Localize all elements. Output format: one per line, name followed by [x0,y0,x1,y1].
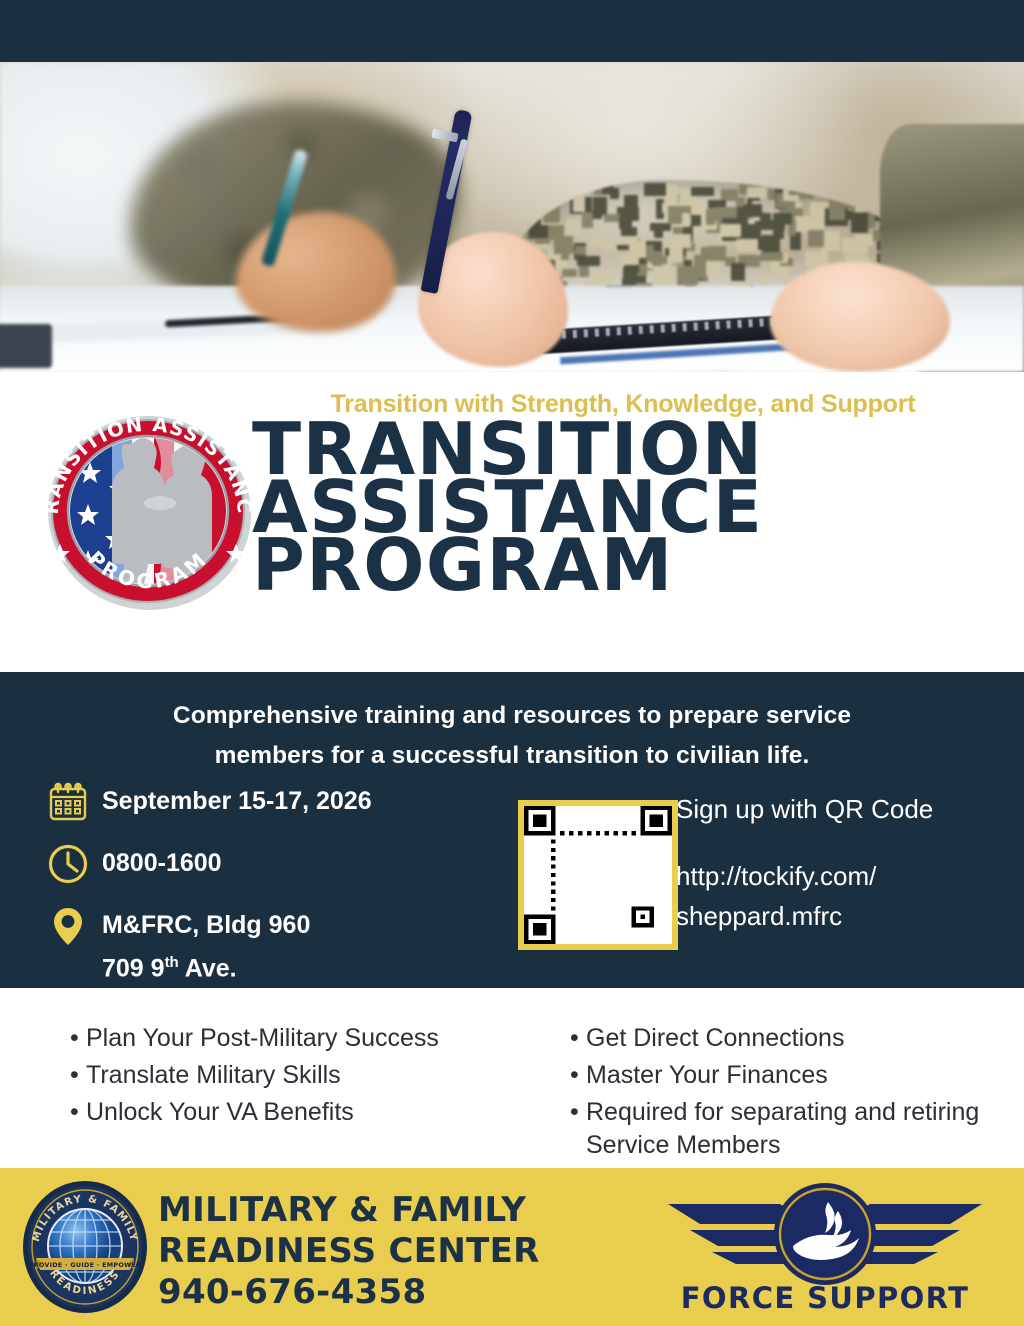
title-block: TRANSITION ASSISTANCE PROGRAM Transition… [0,372,1024,672]
bullet-dot-icon: • [570,1022,586,1055]
page-title: TRANSITION ASSISTANCE PROGRAM [252,420,852,594]
org-name-block: MILITARY & FAMILY READINESS CENTER 940-6… [158,1190,578,1313]
bullet-dot-icon: • [70,1096,86,1129]
qr-url-line-1: http://tockify.com/ [676,856,1006,896]
bullet-dot-icon: • [70,1059,86,1092]
tap-seal-icon: TRANSITION ASSISTANCE PROGRAM [28,404,268,619]
clock-icon [46,842,90,886]
list-item: •Translate Military Skills [70,1059,540,1092]
detail-time: 0800-1600 [46,842,516,886]
bullet-dot-icon: • [570,1059,586,1092]
force-support-wings-icon: FORCE SUPPORT [660,1178,990,1318]
list-item: •Unlock Your VA Benefits [70,1096,540,1129]
list-item: •Master Your Finances [570,1059,1000,1092]
detail-location: M&FRC, Bldg 960 709 9th Ave. [46,904,516,984]
qr-side-text: Sign up with QR Code http://tockify.com/… [676,792,1006,936]
detail-date-text: September 15-17, 2026 [102,780,372,817]
info-lead-line-2: members for a successful transition to c… [60,736,964,776]
list-item-label: Plan Your Post-Military Success [86,1022,540,1055]
info-lead: Comprehensive training and resources to … [60,696,964,776]
detail-time-text: 0800-1600 [102,842,222,879]
list-item-label: Get Direct Connections [586,1022,1000,1055]
mfrc-banner-text: PROVIDE · GUIDE · EMPOWER [29,1261,142,1269]
desk-object [0,324,52,368]
bullet-dot-icon: • [570,1096,586,1129]
qr-inner [524,806,672,944]
list-item-label: Translate Military Skills [86,1059,540,1092]
list-item-label: Master Your Finances [586,1059,1000,1092]
info-lead-line-1: Comprehensive training and resources to … [60,696,964,736]
list-item: •Get Direct Connections [570,1022,1000,1055]
hero-photo [0,62,1024,372]
event-details: September 15-17, 2026 0800-1600 [46,780,516,1002]
list-item-label: Required for separating and retiring Ser… [586,1096,1000,1162]
footer-bar: PROVIDE · GUIDE · EMPOWER MILITARY & FAM… [0,1168,1024,1326]
qr-frame [518,800,678,950]
qr-url-line-2: sheppard.mfrc [676,896,1006,936]
calendar-icon [46,780,90,824]
detail-date: September 15-17, 2026 [46,780,516,824]
bullet-dot-icon: • [70,1022,86,1055]
benefits-right-column: •Get Direct Connections •Master Your Fin… [570,1022,1000,1166]
list-item: •Plan Your Post-Military Success [70,1022,540,1055]
detail-location-text: M&FRC, Bldg 960 709 9th Ave. [102,904,310,984]
flyer-page: TRANSITION ASSISTANCE PROGRAM Transition… [0,0,1024,1326]
benefits-left-column: •Plan Your Post-Military Success •Transl… [70,1022,540,1133]
detail-location-line-2: 709 9th Ave. [102,947,310,984]
force-support-label: FORCE SUPPORT [681,1281,970,1315]
globe-seal-icon: PROVIDE · GUIDE · EMPOWER MILITARY & FAM… [22,1180,148,1314]
benefits-section: •Plan Your Post-Military Success •Transl… [0,988,1024,1168]
qr-caption: Sign up with QR Code [676,792,1006,826]
org-name-line-1: MILITARY & FAMILY [158,1190,578,1231]
qr-url[interactable]: http://tockify.com/ sheppard.mfrc [676,856,1006,936]
org-name-line-2: READINESS CENTER [158,1231,578,1272]
location-pin-icon [46,904,90,948]
org-phone[interactable]: 940-676-4358 [158,1272,578,1313]
qr-code-icon[interactable] [518,800,678,950]
list-item: •Required for separating and retiring Se… [570,1096,1000,1162]
hero-photo-image [0,62,1024,372]
detail-location-line-1: M&FRC, Bldg 960 [102,911,310,939]
qr-canvas [524,806,672,944]
top-navy-bar [0,0,1024,62]
list-item-label: Unlock Your VA Benefits [86,1096,540,1129]
